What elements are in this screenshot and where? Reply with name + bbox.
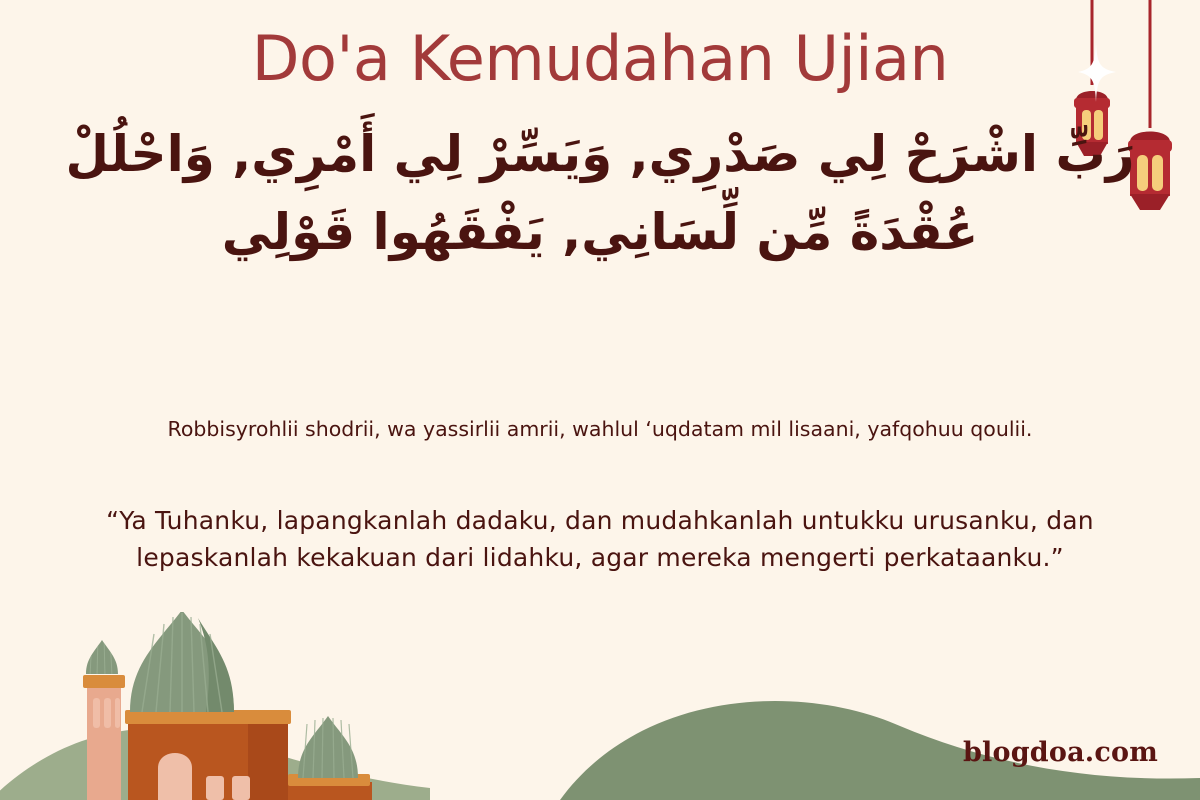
page-title: Do'a Kemudahan Ujian [0, 26, 1200, 91]
site-watermark: blogdoa.com [963, 737, 1158, 768]
transliteration-text: Robbisyrohlii shodrii, wa yassirlii amri… [110, 415, 1090, 445]
translation-text: “Ya Tuhanku, lapangkanlah dadaku, dan mu… [30, 503, 1170, 577]
poster-canvas: Do'a Kemudahan Ujian رَبِّ اشْرَحْ لِي ص… [0, 0, 1200, 800]
arabic-line-2: عُقْدَةً مِّن لِّسَانِي, يَفْقَهُوا قَوْ… [30, 194, 1170, 272]
arabic-line-1: رَبِّ اشْرَحْ لِي صَدْرِي, وَيَسِّرْ لِي… [30, 116, 1170, 194]
text-layer: Do'a Kemudahan Ujian رَبِّ اشْرَحْ لِي ص… [0, 0, 1200, 800]
arabic-duaa: رَبِّ اشْرَحْ لِي صَدْرِي, وَيَسِّرْ لِي… [30, 116, 1170, 271]
